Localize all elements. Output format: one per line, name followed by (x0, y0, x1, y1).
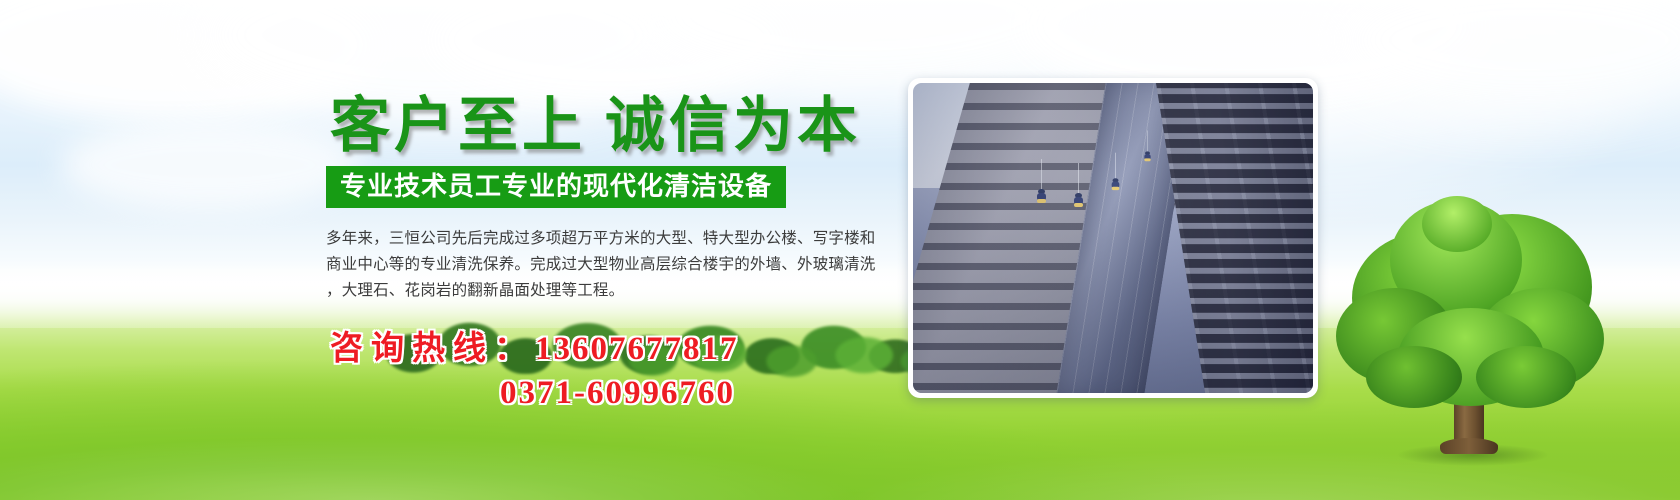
hotline-mobile-number[interactable]: 13607677817 (535, 331, 739, 367)
tree-illustration (1336, 196, 1604, 464)
building-photo-frame[interactable] (908, 78, 1318, 398)
hero-banner: 客户至上 诚信为本 专业技术员工专业的现代化清洁设备 多年来，三恒公司先后完成过… (0, 0, 1680, 500)
paragraph-line: 商业中心等的专业清洗保养。完成过大型物业高层综合楼宇的外墙、外玻璃清洗 (326, 252, 882, 278)
paragraph-line: ，大理石、花岗岩的翻新晶面处理等工程。 (326, 278, 882, 304)
building-photo (913, 83, 1313, 393)
hotline-landline-number[interactable]: 0371-60996760 (330, 370, 902, 416)
tagline-ribbon: 专业技术员工专业的现代化清洁设备 (326, 166, 786, 208)
photo-vignette (913, 83, 1313, 393)
cloud-icon (1320, 0, 1680, 120)
description-paragraph: 多年来，三恒公司先后完成过多项超万平方米的大型、特大型办公楼、写字楼和 商业中心… (326, 226, 882, 304)
tree-canopy (1336, 196, 1604, 410)
banner-copy: 客户至上 诚信为本 专业技术员工专业的现代化清洁设备 多年来，三恒公司先后完成过… (322, 96, 902, 416)
paragraph-line: 多年来，三恒公司先后完成过多项超万平方米的大型、特大型办公楼、写字楼和 (326, 226, 882, 252)
hotline-primary-row: 咨询热线：13607677817 (330, 328, 902, 370)
page-title: 客户至上 诚信为本 (330, 96, 902, 156)
hotline-label: 咨询热线： (330, 331, 535, 367)
hotline-block: 咨询热线：13607677817 0371-60996760 (330, 328, 902, 416)
cloud-icon (60, 120, 360, 210)
